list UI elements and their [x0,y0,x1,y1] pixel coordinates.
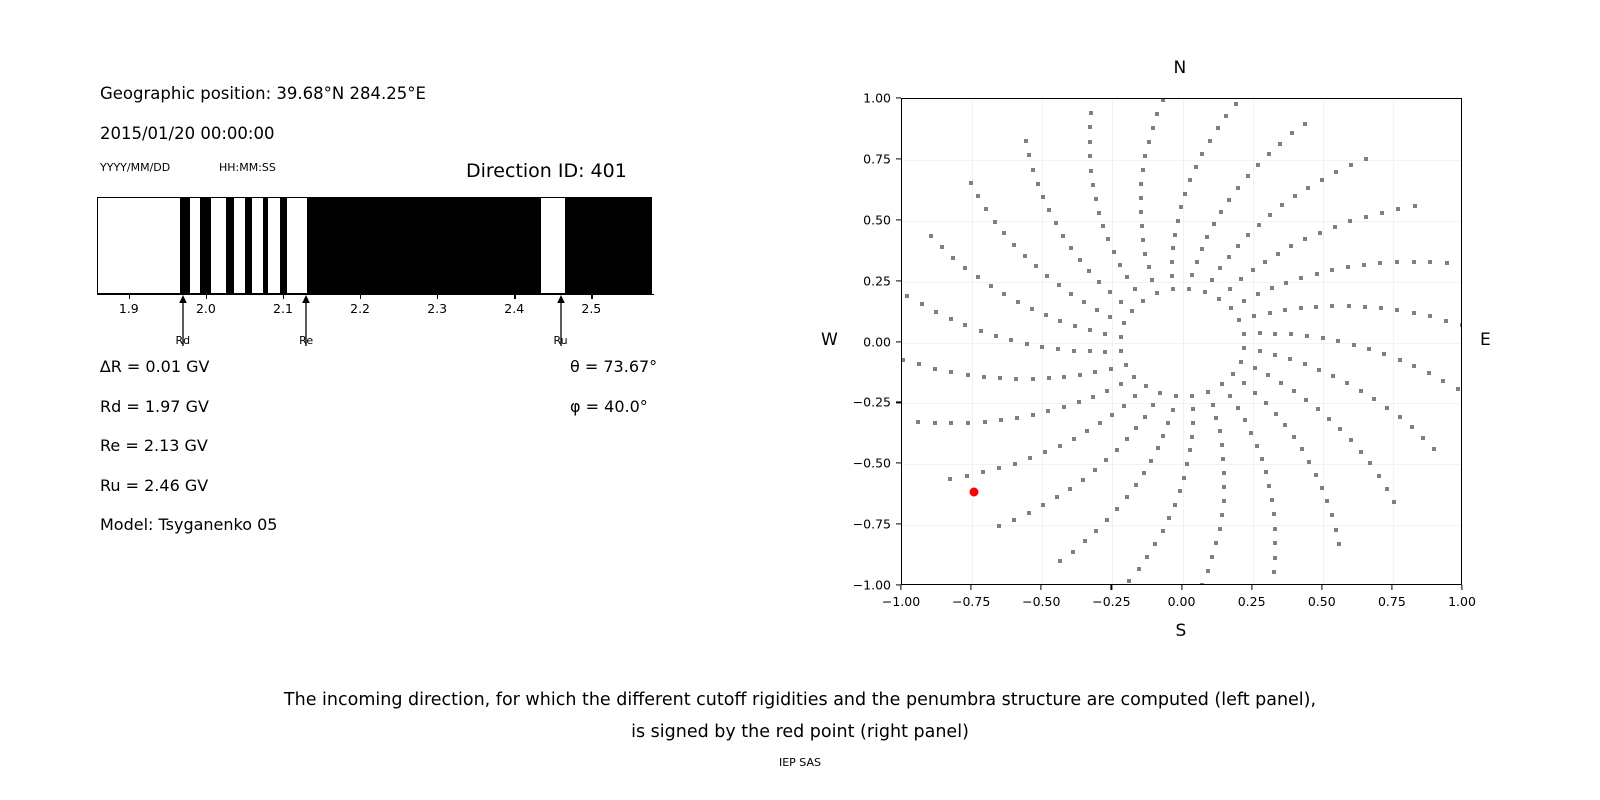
direction-point [1220,513,1224,517]
penumbra-tick [129,294,130,299]
direction-point [1144,384,1148,388]
selected-direction-point[interactable] [969,487,978,496]
direction-point [1222,499,1226,503]
direction-point [1349,438,1353,442]
direction-point [1208,139,1212,143]
cutoff-marker-label-rd: Rd [175,334,190,347]
direction-point [1264,401,1268,405]
compass-west-label: W [821,330,838,350]
direction-point [1272,570,1276,574]
direction-point [1412,364,1416,368]
direction-point [1030,307,1034,311]
direction-point [1094,529,1098,533]
direction-point [983,420,987,424]
direction-point [1058,319,1062,323]
direction-point [1441,379,1445,383]
direction-point [1012,243,1016,247]
direction-point [1147,265,1151,269]
direction-point [1249,431,1253,435]
direction-point [1149,459,1153,463]
direction-point [1200,583,1204,585]
direction-point [1377,474,1381,478]
x-axis-tick [1461,585,1462,590]
direction-point [1273,541,1277,545]
direction-point [1058,444,1062,448]
direction-point [916,420,920,424]
direction-point [1288,357,1292,361]
direction-point [1303,237,1307,241]
direction-id-label: Direction ID: 401 [466,160,627,182]
direction-point [1105,518,1109,522]
direction-point [1412,311,1416,315]
direction-point [1314,473,1318,477]
y-axis-tick-label: −0.25 [839,395,891,410]
direction-point [1218,266,1222,270]
direction-point [982,375,986,379]
y-axis-tick [896,280,901,281]
direction-point [1330,268,1334,272]
gridline-vertical [1112,99,1113,584]
direction-point [1188,448,1192,452]
direction-point [1428,314,1432,318]
direction-point [1337,542,1341,546]
direction-point [1362,263,1366,267]
direction-point [1103,332,1107,336]
direction-point [1347,304,1351,308]
direction-point [1220,382,1224,386]
direction-point [1237,318,1241,322]
direction-point [1273,556,1277,560]
direction-point [1142,471,1146,475]
figure-caption: The incoming direction, for which the di… [0,684,1600,748]
direction-point [1088,328,1092,332]
direction-point [1236,244,1240,248]
direction-point [1395,308,1399,312]
direction-point [976,194,980,198]
direction-point [1014,377,1018,381]
direction-point [1141,168,1145,172]
direction-point [1303,122,1307,126]
gridline-horizontal [902,403,1461,404]
direction-point [1260,457,1264,461]
penumbra-tick [514,294,515,299]
direction-point [1206,569,1210,573]
direction-point [1145,555,1149,559]
compass-south-label: S [1176,621,1187,641]
direction-point [1112,250,1116,254]
direction-point [1289,244,1293,248]
direction-point [1045,274,1049,278]
direction-point [1280,203,1284,207]
direction-point [1078,258,1082,262]
y-axis-tick-label: 1.00 [839,91,891,106]
direction-point [1057,283,1061,287]
direction-point [1336,339,1340,343]
direction-point [1284,281,1288,285]
x-axis-tick-label: 0.00 [1168,594,1196,609]
x-axis-tick [1251,585,1252,590]
x-axis-tick-label: 0.25 [1238,594,1266,609]
direction-point [1097,280,1101,284]
direction-point [1031,377,1035,381]
direction-point [951,256,955,260]
direction-point [1176,219,1180,223]
gridline-horizontal [902,221,1461,222]
direction-point [1219,210,1223,214]
direction-point [934,310,938,314]
direction-point [1047,376,1051,380]
penumbra-bar-wrapper [97,197,652,294]
direction-point [1234,102,1238,106]
direction-point [1098,421,1102,425]
direction-point [1155,112,1159,116]
direction-point [1256,163,1260,167]
direction-point [1456,387,1460,391]
direction-point [1119,300,1123,304]
direction-point [1125,437,1129,441]
direction-point [901,358,905,362]
direction-point [1210,278,1214,282]
direction-point [1252,314,1256,318]
direction-point [1221,457,1225,461]
direction-point [1109,367,1113,371]
gridline-horizontal [902,160,1461,161]
direction-scatter-plot [901,98,1462,585]
direction-point [1229,306,1233,310]
direction-point [1161,434,1165,438]
direction-point [1200,247,1204,251]
direction-point [998,376,1002,380]
direction-point [1299,306,1303,310]
direction-point [1300,447,1304,451]
direction-point [1290,131,1294,135]
direction-point [1276,252,1280,256]
gridline-vertical [1323,99,1324,584]
direction-point [1013,462,1017,466]
direction-point [1214,416,1218,420]
direction-point [1078,373,1082,377]
direction-point [1283,423,1287,427]
direction-point [1380,211,1384,215]
direction-point [1087,269,1091,273]
penumbra-band [280,198,287,293]
direction-point [1027,511,1031,515]
direction-point [1127,579,1131,583]
direction-point [1041,195,1045,199]
x-axis-tick [1391,585,1392,590]
direction-point [1218,429,1222,433]
direction-point [1321,336,1325,340]
y-axis-tick-label: −0.50 [839,456,891,471]
direction-point [1041,503,1045,507]
direction-point [1242,299,1246,303]
direction-point [1103,350,1107,354]
direction-point [989,284,993,288]
direction-point [1231,372,1235,376]
direction-point [966,373,970,377]
direction-point [1218,527,1222,531]
direction-point [1292,435,1296,439]
direction-point [1171,408,1175,412]
direction-point [999,418,1003,422]
direction-point [1217,297,1221,301]
stat-left-2: Re = 2.13 GV [100,436,208,455]
direction-point [1125,275,1129,279]
penumbra-tick-label: 2.5 [581,301,601,316]
direction-point [1263,260,1267,264]
direction-point [1318,231,1322,235]
direction-point [976,275,980,279]
direction-point [1072,349,1076,353]
direction-point [1267,484,1271,488]
penumbra-band [263,198,268,293]
stat-right-1: φ = 40.0° [570,397,648,416]
direction-point [1274,412,1278,416]
left-panel: Geographic position: 39.68°N 284.25°E 20… [0,0,800,660]
direction-point [1094,197,1098,201]
direction-point [1190,435,1194,439]
direction-point [1173,503,1177,507]
direction-point [1194,165,1198,169]
direction-point [1091,183,1095,187]
direction-point [1367,347,1371,351]
direction-point [1108,290,1112,294]
direction-point [1257,223,1261,227]
y-axis-tick [896,463,901,464]
direction-point [1205,235,1209,239]
penumbra-band [180,198,190,293]
direction-point [1190,394,1194,398]
stat-left-4: Model: Tsyganenko 05 [100,515,277,534]
penumbra-band [307,198,541,293]
direction-point [1242,332,1246,336]
penumbra-bar [97,197,652,294]
direction-point [1256,292,1260,296]
direction-point [1273,353,1277,357]
x-axis-tick-label: 1.00 [1448,594,1476,609]
direction-point [1178,489,1182,493]
direction-point [1118,263,1122,267]
direction-point [1307,460,1311,464]
direction-point [1227,255,1231,259]
direction-point [1105,389,1109,393]
direction-point [1124,363,1128,367]
direction-point [1210,555,1214,559]
direction-point [1195,260,1199,264]
y-axis-tick [896,219,901,220]
direction-point [1016,300,1020,304]
y-axis-tick-label: −1.00 [839,578,891,593]
cutoff-marker-label-re: Re [299,334,313,347]
direction-point [1346,265,1350,269]
direction-point [1097,211,1101,215]
datetime-label: 2015/01/20 00:00:00 [100,124,274,143]
direction-point [1314,305,1318,309]
direction-point [1348,219,1352,223]
x-axis-tick-label: −0.75 [952,594,990,609]
direction-point [1293,194,1297,198]
direction-point [963,323,967,327]
y-axis-tick [896,524,901,525]
direction-point [1251,268,1255,272]
direction-point [1385,487,1389,491]
direction-point [1266,373,1270,377]
direction-point [1334,528,1338,532]
direction-point [979,329,983,333]
direction-point [1279,381,1283,385]
direction-point [1133,394,1137,398]
direction-point [1122,321,1126,325]
direction-point [1427,371,1431,375]
direction-point [1167,516,1171,520]
y-axis-tick [896,341,901,342]
direction-point [994,334,998,338]
direction-point [1273,527,1277,531]
direction-point [1236,186,1240,190]
direction-point [1023,254,1027,258]
direction-point [1364,215,1368,219]
direction-point [1047,208,1051,212]
direction-point [1036,182,1040,186]
direction-point [1104,458,1108,462]
direction-point [1170,274,1174,278]
penumbra-band [245,198,252,293]
direction-point [1141,238,1145,242]
direction-point [1188,178,1192,182]
direction-point [1268,311,1272,315]
y-axis-tick-label: −0.75 [839,517,891,532]
direction-point [1220,443,1224,447]
direction-point [1183,192,1187,196]
direction-point [1267,152,1271,156]
penumbra-tick-label: 2.2 [350,301,370,316]
direction-point [1359,389,1363,393]
direction-point [1372,397,1376,401]
stat-left-0: ∆R = 0.01 GV [100,357,209,376]
direction-point [1379,306,1383,310]
direction-point [1292,389,1296,393]
direction-point [1317,368,1321,372]
direction-point [1173,233,1177,237]
direction-point [948,477,952,481]
direction-point [1299,276,1303,280]
direction-point [1239,360,1243,364]
direction-point [1334,170,1338,174]
direction-point [1273,332,1277,336]
direction-point [1166,421,1170,425]
direction-point [1054,221,1058,225]
time-format-hint: HH:MM:SS [219,161,276,174]
x-axis-tick-label: 0.50 [1308,594,1336,609]
direction-point [1130,309,1134,313]
x-axis-tick-label: −1.00 [882,594,920,609]
penumbra-tick-label: 2.3 [427,301,447,316]
direction-point [966,421,970,425]
direction-point [1283,308,1287,312]
direction-point [1002,292,1006,296]
direction-point [1316,407,1320,411]
direction-point [1445,261,1449,265]
direction-point [1345,381,1349,385]
direction-point [1368,461,1372,465]
gridline-vertical [972,99,973,584]
direction-point [1156,446,1160,450]
direction-point [1264,470,1268,474]
compass-north-label: N [1174,58,1187,78]
x-axis-tick [900,585,901,590]
direction-point [1110,413,1114,417]
direction-point [1150,278,1154,282]
direction-point [1255,444,1259,448]
direction-point [1095,308,1099,312]
direction-point [1338,427,1342,431]
penumbra-band [226,198,234,293]
direction-point [949,317,953,321]
direction-point [1062,405,1066,409]
y-axis-tick-label: 0.50 [839,212,891,227]
direction-point [1171,246,1175,250]
direction-point [1155,291,1159,295]
direction-point [1206,390,1210,394]
direction-point [1027,153,1031,157]
direction-point [1151,403,1155,407]
penumbra-tick-label: 1.9 [119,301,139,316]
direction-point [1062,375,1066,379]
direction-point [1115,448,1119,452]
direction-point [1179,205,1183,209]
direction-point [1190,273,1194,277]
direction-point [1392,500,1396,504]
direction-point [1258,331,1262,335]
direction-point [1002,231,1006,235]
direction-point [1056,347,1060,351]
direction-point [1363,305,1367,309]
penumbra-tick [283,294,284,299]
direction-point [1106,237,1110,241]
gridline-horizontal [902,525,1461,526]
caption-line-1: The incoming direction, for which the di… [0,684,1600,716]
penumbra-tick [591,294,592,299]
penumbra-axis: 1.92.02.12.22.32.42.5RdReRu [97,294,654,354]
direction-point [929,234,933,238]
direction-point [1012,518,1016,522]
direction-point [1082,300,1086,304]
direction-point [920,302,924,306]
direction-point [981,470,985,474]
x-axis-tick [1111,585,1112,590]
direction-point [917,362,921,366]
direction-point [1073,324,1077,328]
direction-point [1396,207,1400,211]
y-axis-tick [896,97,901,98]
direction-point [1182,476,1186,480]
x-axis-tick-label: −0.50 [1022,594,1060,609]
direction-point [1141,299,1145,303]
direction-point [1191,421,1195,425]
direction-point [1108,315,1112,319]
direction-point [1385,406,1389,410]
direction-point [1081,478,1085,482]
direction-point [1153,542,1157,546]
direction-point [1139,210,1143,214]
direction-point [1133,287,1137,291]
direction-point [1132,375,1136,379]
direction-point [1101,224,1105,228]
direction-point [1270,286,1274,290]
direction-point [1187,287,1191,291]
direction-point [1143,154,1147,158]
direction-point [1119,349,1123,353]
